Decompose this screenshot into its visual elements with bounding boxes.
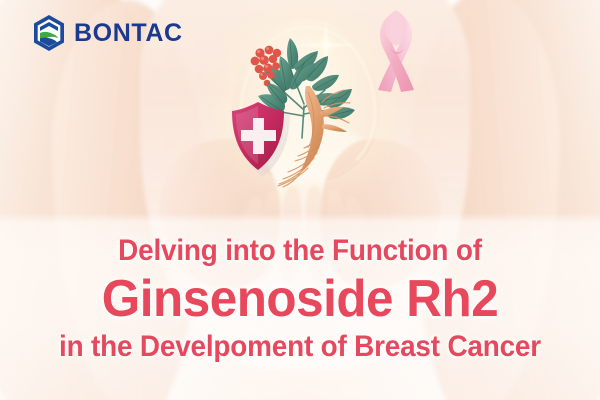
breast-cancer-ginsenoside-banner: BONTAC Delving into the Function of Gins…	[0, 0, 600, 400]
bontac-hexagon-logo-icon	[31, 14, 67, 52]
pink-awareness-ribbon-icon	[358, 4, 434, 96]
headline-line-top: Delving into the Function of	[21, 236, 579, 266]
medical-shield-with-cross	[232, 102, 290, 177]
headline-line-main: Ginsenoside Rh2	[15, 272, 585, 327]
bontac-wordmark: BONTAC	[74, 21, 183, 46]
headline-block: Delving into the Function of Ginsenoside…	[0, 236, 600, 362]
bontac-logo[interactable]: BONTAC	[31, 14, 183, 52]
headline-line-bottom: in the Develpoment of Breast Cancer	[21, 332, 579, 362]
